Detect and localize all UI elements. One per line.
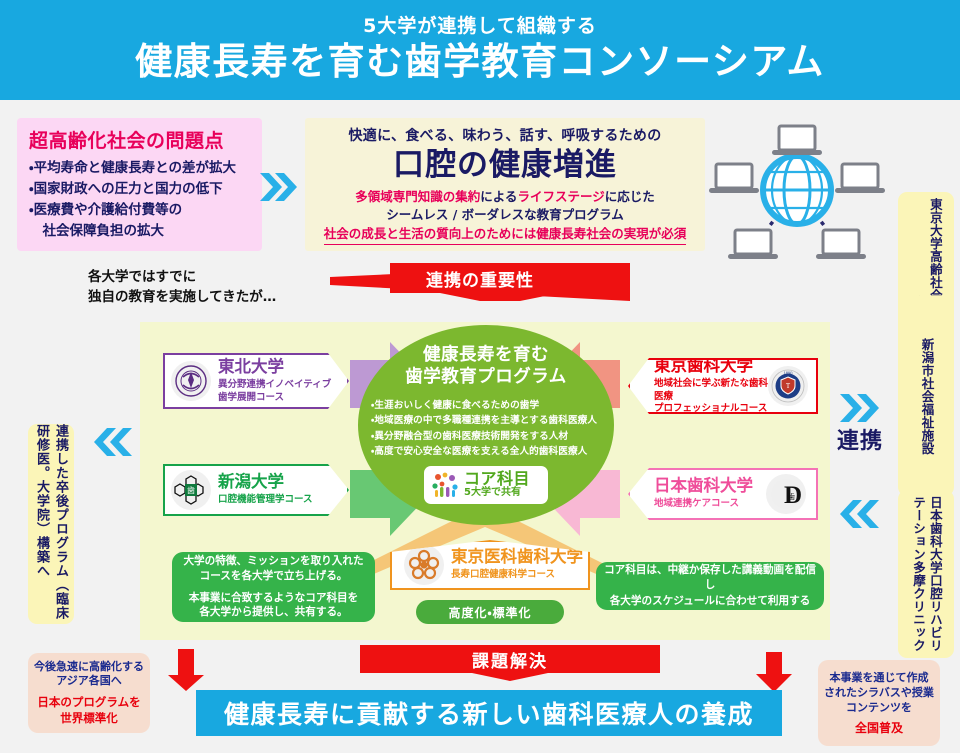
university-course-line1: 地域連携ケアコース bbox=[654, 498, 766, 510]
oral-health-box: 快適に、食べる、味わう、話す、呼吸するための 口腔の健康増進 多領域専門知識の集… bbox=[305, 118, 705, 251]
beige-left-navy-l2: アジア各国へ bbox=[56, 674, 122, 687]
university-name: 東北大学 bbox=[218, 358, 331, 376]
page-header: 5大学が連携して組織する 健康長寿を育む歯学教育コンソーシアム bbox=[0, 0, 960, 100]
oral-health-lead: 快適に、食べる、味わう、話す、呼吸するための bbox=[348, 125, 661, 145]
already-note-line1: 各大学ではすでに bbox=[88, 268, 328, 288]
problem-item: 社会保障負担の拡大 bbox=[29, 222, 252, 241]
program-bullet: ・地域医療の中で多職種連携を主導とする歯科医療人 bbox=[371, 413, 607, 429]
header-subtitle: 5大学が連携して組織する bbox=[363, 16, 597, 37]
beige-left-red-l2: 世界標準化 bbox=[60, 711, 118, 725]
globe-icon bbox=[763, 156, 831, 224]
note-left-p1-l1: 大学の特徴、ミッションを取り入れた bbox=[183, 555, 363, 567]
note-left-para1: 大学の特徴、ミッションを取り入れた コースを各大学で立ち上げる。 bbox=[183, 554, 363, 584]
note-left-box: 大学の特徴、ミッションを取り入れた コースを各大学で立ち上げる。 本事業に合致す… bbox=[172, 552, 375, 622]
banner-kadai-label: 課題解決 bbox=[360, 645, 660, 673]
note-left-p1-l2: コースを各大学で立ち上げる。 bbox=[200, 570, 348, 582]
university-name: 東京医科歯科大学 bbox=[451, 548, 583, 566]
university-name: 東京歯科大学 bbox=[654, 357, 768, 375]
tdc-shield-icon: T 1890 bbox=[768, 366, 808, 406]
university-card-tohoku[interactable]: 東北大学 異分野連携イノベイティブ 歯学展開コース bbox=[163, 353, 349, 409]
note-right-l1: コア科目は、中継か保存した講義動画を配信し bbox=[604, 564, 816, 591]
program-bullet: ・異分野融合型の歯科医療技術開発をする人材 bbox=[371, 429, 607, 445]
svg-text:歯: 歯 bbox=[187, 485, 195, 495]
note-right-para: コア科目は、中継か保存した講義動画を配信し 各大学のスケジュールに合わせて利用す… bbox=[600, 563, 820, 609]
beige-left-red: 日本のプログラムを 世界標準化 bbox=[37, 695, 140, 726]
note-left-p2-l2: 各大学から提供し、共有する。 bbox=[199, 606, 347, 618]
vertical-label-niigata-welfare: 新潟市社会福祉施設 bbox=[898, 296, 954, 496]
beige-right-navy-l2: されたシラバスや授業 bbox=[824, 686, 934, 699]
ndu-d-icon: D 歯 bbox=[766, 474, 806, 514]
elbow-arrow-right-icon bbox=[742, 648, 802, 696]
beige-right-navy-l3: コンテンツを bbox=[846, 701, 912, 714]
problem-item: ・国家財政への圧力と国力の低下 bbox=[29, 180, 252, 199]
elbow-arrow-left-icon bbox=[160, 645, 220, 695]
university-course-line1: 長寿口腔健康科学コース bbox=[451, 569, 583, 581]
banner-renkei-label: 連携の重要性 bbox=[330, 263, 630, 293]
vertical-label-postgrad-text: 連携した卒後プログラム（臨床研修医。大学院）構築へ bbox=[32, 424, 70, 624]
core-subject-badge: コア科目 5大学で共有 bbox=[424, 466, 548, 504]
page-title: 健康長寿を育む歯学教育コンソーシアム bbox=[135, 40, 825, 84]
core-badge-subtitle: 5大学で共有 bbox=[464, 488, 530, 499]
university-name: 日本歯科大学 bbox=[654, 477, 766, 495]
bottom-banner: 健康長寿に貢献する新しい歯科医療人の養成 bbox=[196, 690, 782, 736]
university-course-line1: 口腔機能管理学コース bbox=[218, 494, 313, 506]
university-card-ndu[interactable]: 日本歯科大学 地域連携ケアコース D 歯 bbox=[628, 468, 818, 520]
double-chevron-left-icon bbox=[92, 425, 136, 459]
program-oval-title: 健康長寿を育む 歯学教育プログラム bbox=[405, 345, 566, 389]
university-card-niigata[interactable]: 歯 新潟大学 口腔機能管理学コース bbox=[163, 464, 349, 516]
core-badge-title: コア科目 bbox=[464, 471, 530, 488]
university-course-line2: 歯学展開コース bbox=[218, 392, 331, 404]
vertical-label-ndu-tama-text: 日本歯科大学口腔リハビリテーション多摩クリニック bbox=[909, 490, 943, 658]
note-right-box: コア科目は、中継か保存した講義動画を配信し 各大学のスケジュールに合わせて利用す… bbox=[596, 562, 824, 610]
banner-renkei: 連携の重要性 bbox=[330, 263, 630, 301]
oral-line1-seg1: 多領域専門知識の集約 bbox=[355, 189, 480, 204]
already-note-line2: 独自の教育を実施してきたが… bbox=[88, 288, 328, 308]
banner-kadai: 課題解決 bbox=[360, 645, 660, 681]
oral-line1-seg4: に応じた bbox=[605, 189, 655, 204]
problem-box-title: 超高齢化社会の問題点 bbox=[29, 126, 252, 153]
tdc-logo-year: 1890 bbox=[784, 371, 794, 376]
program-bullet: ・高度で安心安全な医療を支える全人的歯科医療人 bbox=[371, 444, 607, 460]
beige-box-syllabus: 本事業を通じて作成 されたシラバスや授業 コンテンツを 全国普及 bbox=[818, 660, 940, 746]
bottom-banner-text: 健康長寿に貢献する新しい歯科医療人の養成 bbox=[224, 695, 754, 731]
university-course-line1: 異分野連携イノベイティブ bbox=[218, 379, 331, 391]
vertical-label-ndu-tama: 日本歯科大学口腔リハビリテーション多摩クリニック bbox=[898, 490, 954, 658]
renkei-label: 連携 bbox=[835, 430, 885, 454]
university-course-line1: 地域社会に学ぶ新たな歯科医療 bbox=[654, 378, 768, 402]
beige-right-red: 全国普及 bbox=[855, 719, 903, 736]
problem-item: ・医療費や介護給付費等の bbox=[29, 201, 252, 220]
beige-left-navy-l1: 今後急速に高齢化する bbox=[34, 660, 144, 673]
program-title-line2: 歯学教育プログラム bbox=[405, 367, 566, 389]
beige-right-navy: 本事業を通じて作成 されたシラバスや授業 コンテンツを bbox=[824, 670, 934, 716]
oral-line1-seg3: ライフステージ bbox=[517, 189, 604, 204]
vertical-label-postgrad: 連携した卒後プログラム（臨床研修医。大学院）構築へ bbox=[28, 424, 74, 624]
double-chevron-right-icon-top bbox=[838, 392, 882, 424]
vertical-label-niigata-welfare-text: 新潟市社会福祉施設 bbox=[918, 338, 935, 455]
double-chevron-right-icon bbox=[258, 170, 298, 204]
beige-right-navy-l1: 本事業を通じて作成 bbox=[829, 671, 928, 684]
university-card-tdc[interactable]: 東京歯科大学 地域社会に学ぶ新たな歯科医療 プロフェッショナルコース T 189… bbox=[628, 358, 818, 414]
note-left-para2: 本事業に合致するようなコア科目を 各大学から提供し、共有する。 bbox=[189, 591, 359, 621]
oral-line1-seg2: による bbox=[480, 189, 517, 204]
tohoku-crest-icon bbox=[171, 361, 211, 401]
note-right-l2: 各大学のスケジュールに合わせて利用する bbox=[610, 595, 811, 607]
already-note: 各大学ではすでに 独自の教育を実施してきたが… bbox=[88, 268, 328, 307]
problem-item: ・平均寿命と健康長寿との差が拡大 bbox=[29, 159, 252, 178]
double-chevron-left-icon-bottom bbox=[838, 498, 882, 530]
university-name: 新潟大学 bbox=[218, 473, 313, 491]
pill-kodoka: 高度化・標準化 bbox=[416, 600, 564, 624]
oral-health-line2: シームレス / ボーダレスな教育プログラム bbox=[386, 206, 624, 224]
university-course-line2: プロフェッショナルコース bbox=[654, 403, 768, 415]
beige-left-navy: 今後急速に高齢化する アジア各国へ bbox=[34, 660, 144, 690]
program-bullet: ・生涯おいしく健康に食べるための歯学 bbox=[371, 398, 607, 414]
note-left-p2-l1: 本事業に合致するようなコア科目を bbox=[189, 592, 359, 604]
globe-network-icon bbox=[700, 120, 895, 265]
tmdu-flower-icon bbox=[404, 545, 444, 585]
oral-health-line1: 多領域専門知識の集約によるライフステージに応じた bbox=[355, 188, 654, 206]
svg-text:歯: 歯 bbox=[788, 492, 795, 501]
oral-health-line3: 社会の成長と生活の質向上のためには健康長寿社会の実現が必須 bbox=[324, 225, 687, 245]
oral-health-title: 口腔の健康増進 bbox=[393, 148, 617, 184]
beige-box-asia: 今後急速に高齢化する アジア各国へ 日本のプログラムを 世界標準化 bbox=[28, 653, 150, 733]
program-bullet-list: ・生涯おいしく健康に食べるための歯学 ・地域医療の中で多職種連携を主導とする歯科… bbox=[365, 398, 607, 460]
svg-text:T: T bbox=[786, 382, 791, 390]
beige-left-red-l1: 日本のプログラムを bbox=[37, 695, 140, 709]
program-title-line1: 健康長寿を育む bbox=[405, 345, 566, 367]
people-cluster-icon bbox=[430, 470, 460, 500]
niigata-hex-icon: 歯 bbox=[171, 470, 211, 510]
problem-box: 超高齢化社会の問題点 ・平均寿命と健康長寿との差が拡大 ・国家財政への圧力と国力… bbox=[17, 118, 262, 251]
